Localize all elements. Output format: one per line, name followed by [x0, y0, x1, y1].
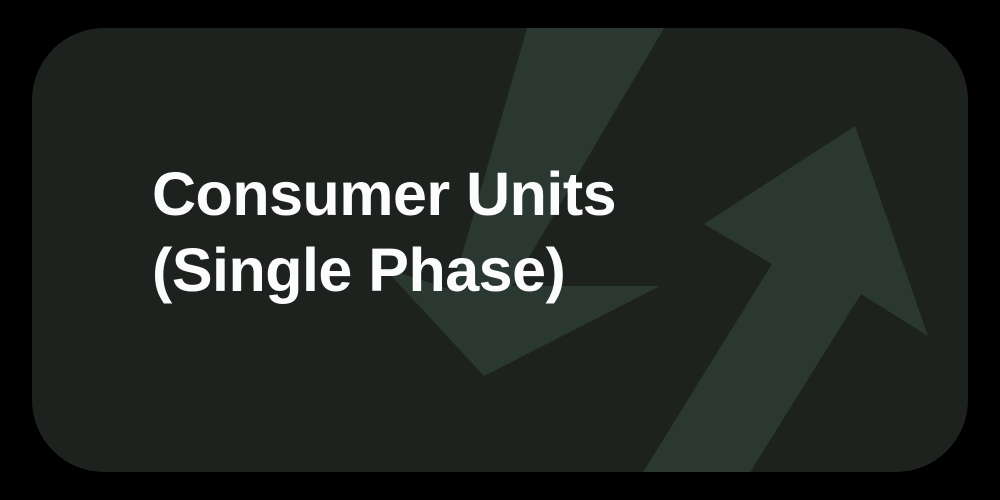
down-left-arrow-icon	[384, 28, 670, 376]
banner-root: Consumer Units (Single Phase)	[0, 0, 1000, 500]
up-right-arrow-icon	[637, 126, 928, 472]
arrow-graphics-layer	[32, 28, 968, 472]
banner-card: Consumer Units (Single Phase)	[32, 28, 968, 472]
